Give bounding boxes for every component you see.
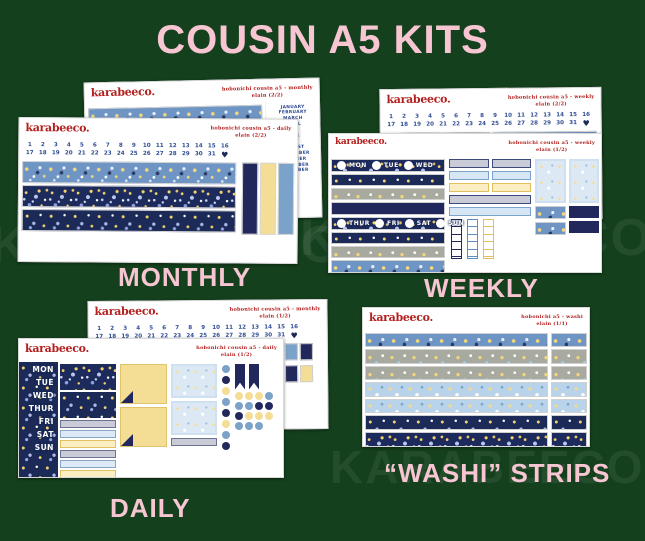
date-number[interactable]: 30 — [555, 120, 566, 128]
date-number[interactable]: 5 — [76, 142, 87, 148]
washi-strip[interactable] — [551, 382, 587, 397]
dot-sticker[interactable] — [222, 420, 230, 428]
kit-showcase-page: KARABEECO KARABEECO KARABEECO COUSIN A5 … — [0, 0, 645, 541]
washi-strip[interactable] — [331, 174, 445, 186]
dot-sticker[interactable] — [245, 402, 253, 410]
washi-strip[interactable] — [365, 399, 548, 414]
date-number[interactable]: 16 — [581, 111, 592, 117]
washi-sheet-1[interactable]: karabeeco. hobonichi a5 - washi elain (1… — [362, 307, 590, 447]
date-number[interactable]: 31 — [206, 151, 217, 159]
date-number[interactable]: 3 — [50, 142, 61, 148]
heart-icon[interactable]: ♥ — [219, 151, 230, 159]
date-number[interactable]: 1 — [24, 142, 35, 148]
date-number[interactable]: 15 — [276, 324, 287, 330]
frame-sticker[interactable] — [171, 401, 218, 435]
washi-strip[interactable] — [551, 415, 587, 430]
sticker-bar[interactable] — [171, 438, 218, 446]
dot-sticker[interactable] — [255, 392, 263, 400]
date-number[interactable]: 20 — [63, 150, 74, 158]
sticker-box[interactable] — [449, 207, 531, 216]
date-number[interactable]: 11 — [224, 324, 235, 330]
sticker-row — [535, 206, 599, 235]
date-number[interactable]: 22 — [89, 150, 100, 158]
date-number[interactable]: 12 — [529, 112, 540, 118]
date-number[interactable]: 22 — [451, 121, 462, 129]
weekday-label-thur[interactable]: THUR — [22, 403, 56, 415]
washi-strip[interactable] — [331, 232, 445, 244]
date-number[interactable]: 2 — [399, 113, 410, 119]
date-number[interactable]: 15 — [568, 112, 579, 118]
dot-sticker[interactable] — [235, 422, 243, 430]
sheet-body — [363, 331, 589, 448]
sticker-bar[interactable] — [60, 440, 116, 448]
sheet-label: hobonichi cousin a5 - daily elain (1/2) — [196, 343, 277, 359]
dot-sticker[interactable] — [265, 392, 273, 400]
circle-icon — [372, 161, 381, 170]
page-title: COUSIN A5 KITS — [0, 18, 645, 63]
sheet-label: hobonichi cousin a5 - weekly elain (2/2) — [508, 92, 595, 108]
sticker-box[interactable] — [492, 183, 532, 192]
dot-sticker[interactable] — [222, 442, 230, 450]
navy-bar-sticker[interactable] — [331, 202, 445, 214]
brand-logo: karabeeco. — [25, 122, 89, 133]
tag-sticker[interactable] — [300, 365, 313, 382]
sticker-row — [535, 159, 599, 203]
note-sticker[interactable] — [120, 407, 167, 447]
date-number[interactable]: 1 — [94, 325, 105, 331]
weekday-label-column: MON TUE WED THUR FRI SAT SUN — [19, 362, 58, 479]
weekday-label: FRI — [387, 220, 400, 227]
sticker-row — [449, 207, 531, 216]
brand-logo: karabeeco. — [91, 86, 155, 98]
date-number[interactable]: 25 — [128, 150, 139, 158]
weekday-label: WED — [416, 162, 434, 169]
flag-sticker[interactable] — [249, 364, 259, 390]
brand-logo: karabeeco. — [94, 305, 158, 317]
dot-sticker[interactable] — [222, 387, 230, 395]
sheet-body — [19, 159, 298, 237]
washi-strip[interactable] — [551, 333, 587, 348]
circle-icon — [405, 219, 414, 228]
date-number[interactable]: 14 — [555, 112, 566, 118]
sticker-box[interactable] — [449, 159, 489, 168]
sheet-label-line1: hobonichi a5 - washi — [521, 314, 583, 321]
daily-sheet-1[interactable]: karabeeco. hobonichi cousin a5 - daily e… — [18, 338, 284, 478]
flag-sticker[interactable] — [235, 364, 245, 390]
sticker-row — [449, 195, 531, 204]
date-number[interactable]: 3 — [120, 325, 131, 331]
weekday-label: MON — [349, 162, 367, 169]
brand-logo: karabeeco. — [386, 93, 450, 105]
weekly-sheet-1[interactable]: karabeeco. hobonichi cousin a5 - weekly … — [328, 133, 602, 273]
date-number[interactable]: 2 — [107, 325, 118, 331]
date-number[interactable]: 6 — [451, 113, 462, 119]
date-number[interactable]: 25 — [490, 120, 501, 128]
sheet-body: MON TUE WED THUR FRI SAT SUN — [329, 157, 601, 274]
date-number[interactable]: 30 — [193, 151, 204, 159]
frame-sticker[interactable] — [171, 364, 218, 398]
washi-strip[interactable] — [551, 349, 587, 364]
washi-strip[interactable] — [535, 206, 566, 219]
checklist-sticker[interactable] — [467, 219, 478, 259]
heart-icon[interactable]: ♥ — [289, 332, 300, 340]
date-number[interactable]: 26 — [141, 150, 152, 158]
date-number[interactable]: 9 — [198, 324, 209, 330]
sticker-box[interactable] — [449, 183, 489, 192]
sheet-label: hobonichi cousin a5 - daily elain (2/2) — [210, 123, 291, 139]
dot-sticker-grid — [235, 392, 281, 430]
circle-icon — [375, 219, 384, 228]
date-number[interactable]: 2 — [37, 142, 48, 148]
dot-sticker[interactable] — [265, 412, 273, 420]
sticker-box[interactable] — [449, 195, 531, 204]
dot-sticker[interactable] — [222, 398, 230, 406]
caption-weekly: WEEKLY — [424, 273, 539, 304]
date-number[interactable]: 4 — [425, 113, 436, 119]
date-number[interactable]: 3 — [412, 113, 423, 119]
washi-strip[interactable] — [331, 260, 445, 272]
dot-sticker[interactable] — [235, 412, 243, 420]
dot-sticker[interactable] — [255, 422, 263, 430]
date-number[interactable]: 16 — [219, 143, 230, 149]
sheet-label-line2: elain (1/1) — [521, 321, 583, 328]
date-number[interactable]: 4 — [63, 142, 74, 148]
washi-strip[interactable] — [331, 246, 445, 258]
weekday-label: SAT — [417, 220, 431, 227]
brand-logo: karabeeco. — [25, 343, 89, 354]
weekday-label-wed[interactable]: WED — [22, 390, 56, 402]
date-number[interactable]: 1 — [386, 113, 397, 119]
dot-sticker[interactable] — [222, 376, 230, 384]
date-number[interactable]: 24 — [115, 150, 126, 158]
date-number[interactable]: 29 — [180, 151, 191, 159]
date-number[interactable]: 31 — [568, 120, 579, 128]
date-number[interactable]: 12 — [167, 143, 178, 149]
sheet-header: karabeeco. hobonichi a5 - washi elain (1… — [363, 308, 589, 331]
dot-sticker[interactable] — [222, 431, 230, 439]
date-number[interactable]: 18 — [37, 150, 48, 158]
date-number[interactable]: 24 — [477, 121, 488, 129]
date-number[interactable]: 7 — [102, 142, 113, 148]
date-number[interactable]: 26 — [503, 120, 514, 128]
washi-strip[interactable] — [22, 185, 236, 208]
brand-logo: karabeeco. — [369, 312, 433, 323]
sheet-label-line2: elain (2/2) — [508, 101, 595, 109]
weekday-label: TUE — [384, 162, 399, 169]
sheet-label-line1: hobonichi cousin a5 - weekly — [508, 140, 595, 147]
flag-and-dot-column — [233, 362, 283, 479]
washi-strip[interactable] — [365, 349, 548, 364]
circle-icon — [337, 161, 346, 170]
weekday-strip-mon[interactable]: MON TUE WED — [331, 159, 445, 173]
sticker-bar[interactable] — [60, 470, 116, 478]
sheet-label: hobonichi a5 - washi elain (1/1) — [521, 312, 583, 328]
sticker-row — [449, 171, 531, 180]
date-number[interactable]: 27 — [154, 150, 165, 158]
weekday-label: SUN — [448, 220, 464, 227]
sheet-label-line2: elain (1/2) — [230, 313, 321, 321]
date-number[interactable]: 8 — [477, 113, 488, 119]
circle-icon — [337, 219, 346, 228]
sheet-label-line2: elain (2/2) — [210, 132, 291, 139]
caption-daily: DAILY — [110, 493, 191, 524]
weekday-label: THUR — [349, 220, 370, 227]
washi-strip[interactable] — [22, 209, 236, 232]
date-number[interactable]: 13 — [250, 324, 261, 330]
washi-strip[interactable] — [331, 188, 445, 200]
dot-sticker[interactable] — [222, 409, 230, 417]
washi-strip[interactable] — [365, 333, 548, 348]
date-number[interactable]: 8 — [115, 142, 126, 148]
date-number[interactable]: 28 — [167, 151, 178, 159]
date-number[interactable]: 19 — [50, 150, 61, 158]
washi-strip[interactable] — [22, 161, 236, 184]
sticker-box[interactable] — [492, 171, 532, 180]
dot-sticker[interactable] — [245, 392, 253, 400]
date-number[interactable]: 17 — [386, 121, 397, 129]
date-number[interactable]: 12 — [237, 324, 248, 330]
caption-washi: “WASHI” STRIPS — [384, 458, 610, 489]
washi-strip-stack — [19, 159, 240, 237]
date-number[interactable]: 10 — [211, 324, 222, 330]
sticker-column — [58, 362, 118, 479]
weekday-strip-column: MON TUE WED THUR FRI SAT SUN — [329, 157, 447, 274]
weekday-label-sat[interactable]: SAT — [22, 429, 56, 441]
sheet-label-line2: elain (1/2) — [508, 147, 595, 154]
washi-strip-stack — [365, 333, 548, 447]
date-number[interactable]: 13 — [180, 143, 191, 149]
sheet-label-line2: elain (1/2) — [196, 352, 277, 359]
washi-strip-stack-short — [551, 333, 587, 447]
date-number[interactable]: 29 — [542, 120, 553, 128]
date-number[interactable]: 21 — [76, 150, 87, 158]
sticker-bar[interactable] — [60, 450, 116, 458]
date-number[interactable]: 10 — [141, 142, 152, 148]
date-number[interactable]: 11 — [516, 112, 527, 118]
tag-sticker[interactable] — [300, 343, 313, 360]
date-number[interactable]: 23 — [102, 150, 113, 158]
sheet-header: karabeeco. hobonichi cousin a5 - weekly … — [380, 88, 600, 113]
date-number[interactable]: 16 — [289, 324, 300, 330]
date-number[interactable]: 5 — [146, 325, 157, 331]
date-number[interactable]: 7 — [464, 113, 475, 119]
date-number[interactable]: 17 — [24, 150, 35, 158]
washi-strip[interactable] — [365, 432, 548, 447]
circle-icon — [404, 161, 413, 170]
heart-icon[interactable]: ♥ — [581, 119, 592, 127]
color-swatch-group — [239, 160, 298, 236]
date-number[interactable]: 13 — [542, 112, 553, 118]
date-number[interactable]: 14 — [263, 324, 274, 330]
sheet-label: hobonichi cousin a5 - weekly elain (1/2) — [508, 138, 595, 154]
washi-strip[interactable] — [551, 399, 587, 414]
date-number[interactable]: 21 — [438, 121, 449, 129]
date-number[interactable]: 15 — [206, 143, 217, 149]
sticker-row — [449, 159, 531, 168]
date-number[interactable]: 9 — [128, 142, 139, 148]
date-number[interactable]: 28 — [529, 120, 540, 128]
date-number[interactable]: 23 — [464, 121, 475, 129]
circle-icon — [436, 219, 445, 228]
date-number[interactable]: 6 — [159, 325, 170, 331]
sheet-header: karabeeco. hobonichi cousin a5 - monthly… — [88, 300, 326, 325]
navy-bar-sticker[interactable] — [569, 221, 600, 233]
sheet-header: karabeeco. hobonichi cousin a5 - daily e… — [19, 339, 283, 362]
washi-strip[interactable] — [365, 366, 548, 381]
caption-monthly: MONTHLY — [118, 262, 251, 293]
date-number[interactable]: 20 — [425, 121, 436, 129]
frame-sticker-column — [533, 157, 601, 274]
dot-sticker[interactable] — [245, 422, 253, 430]
sheet-label: hobonichi cousin a5 - monthly elain (2/2… — [222, 83, 313, 100]
sheet-header: karabeeco. hobonichi cousin a5 - daily e… — [19, 118, 297, 142]
weekday-label-tue[interactable]: TUE — [22, 377, 56, 389]
date-number[interactable]: 19 — [412, 121, 423, 129]
dot-sticker[interactable] — [265, 402, 273, 410]
sticker-row — [449, 183, 531, 192]
frame-sticker-column — [169, 362, 220, 479]
dot-sticker[interactable] — [222, 365, 230, 373]
date-number[interactable]: 6 — [89, 142, 100, 148]
washi-strip[interactable] — [551, 366, 587, 381]
washi-strip[interactable] — [551, 432, 587, 447]
frame-sticker[interactable] — [535, 159, 566, 203]
weekday-label-sun[interactable]: SUN — [22, 442, 56, 454]
dot-sticker[interactable] — [255, 402, 263, 410]
sticker-bar[interactable] — [60, 420, 116, 428]
dot-sticker[interactable] — [255, 412, 263, 420]
weekday-label-mon[interactable]: MON — [22, 364, 56, 376]
daily-sheet-2[interactable]: karabeeco. hobonichi cousin a5 - daily e… — [17, 117, 298, 264]
pattern-sticker[interactable] — [60, 392, 116, 418]
sticker-bar[interactable] — [60, 460, 116, 468]
washi-strip[interactable] — [365, 415, 548, 430]
tag-sticker[interactable] — [285, 343, 298, 360]
checklist-sticker[interactable] — [483, 219, 494, 259]
sticker-box[interactable] — [449, 171, 489, 180]
note-sticker[interactable] — [120, 364, 167, 404]
date-number[interactable]: 18 — [399, 121, 410, 129]
date-number[interactable]: 7 — [172, 325, 183, 331]
dot-sticker[interactable] — [235, 392, 243, 400]
date-number[interactable]: 9 — [490, 112, 501, 118]
sheet-header: karabeeco. hobonichi cousin a5 - weekly … — [329, 134, 601, 157]
sheet-body: MON TUE WED THUR FRI SAT SUN — [19, 362, 283, 479]
date-number[interactable]: 5 — [438, 113, 449, 119]
tag-sticker[interactable] — [285, 365, 298, 382]
washi-strip[interactable] — [365, 382, 548, 397]
sticker-box-grid — [447, 157, 533, 274]
dot-sticker[interactable] — [245, 412, 253, 420]
date-number[interactable]: 11 — [154, 142, 165, 148]
washi-strip[interactable] — [535, 222, 566, 235]
pattern-sticker[interactable] — [60, 364, 116, 390]
sheet-label-line1: hobonichi cousin a5 - daily — [196, 345, 277, 352]
dot-sticker[interactable] — [235, 402, 243, 410]
note-sticker-column — [118, 362, 169, 479]
sheet-label-line1: hobonichi cousin a5 - daily — [211, 125, 292, 132]
sticker-bar[interactable] — [60, 430, 116, 438]
sheet-label: hobonichi cousin a5 - monthly elain (1/2… — [230, 304, 321, 320]
weekday-label-fri[interactable]: FRI — [22, 416, 56, 428]
dot-sticker-strip — [219, 362, 233, 479]
date-number[interactable]: 14 — [193, 143, 204, 149]
date-number[interactable]: 27 — [516, 120, 527, 128]
color-swatch-navy[interactable] — [242, 162, 259, 234]
color-swatch-blue[interactable] — [278, 162, 295, 234]
color-swatch-yellow[interactable] — [260, 162, 277, 234]
date-number[interactable]: 10 — [503, 112, 514, 118]
weekday-strip-thur[interactable]: THUR FRI SAT SUN — [331, 217, 445, 231]
sticker-box[interactable] — [492, 159, 532, 168]
brand-logo: karabeeco. — [335, 138, 387, 147]
frame-sticker[interactable] — [569, 159, 600, 203]
navy-bar-sticker[interactable] — [569, 206, 600, 218]
date-number[interactable]: 4 — [133, 325, 144, 331]
date-number[interactable]: 8 — [185, 325, 196, 331]
